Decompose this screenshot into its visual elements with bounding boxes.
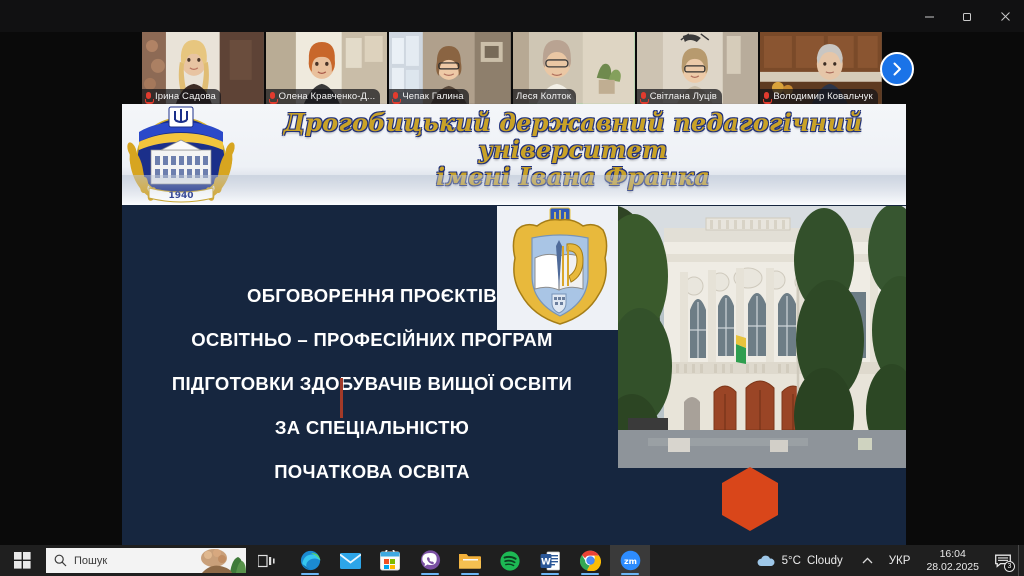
participant-name-badge: Ірина Садова (142, 89, 221, 104)
taskbar-app-store[interactable] (370, 545, 410, 576)
participant-tile[interactable]: Ірина Садова (142, 32, 264, 104)
participant-name: Леся Колток (516, 89, 571, 104)
notification-center-button[interactable]: 3 (988, 545, 1018, 576)
weather-temperature: 5°C (782, 555, 801, 567)
university-emblem: 1940 (125, 106, 237, 204)
participant-tile[interactable]: Світлана Луців (637, 32, 759, 104)
viber-icon (420, 550, 441, 571)
participant-name: Світлана Луців (650, 89, 717, 104)
participant-name: Чепак Галина (402, 89, 463, 104)
taskbar-app-word[interactable]: W (530, 545, 570, 576)
slide-header-band: 1940 Дрогобицький державний педагогічний… (122, 104, 906, 205)
chevron-up-icon (862, 557, 873, 564)
taskbar-app-icons: W zm (290, 545, 650, 576)
screen: Ірина Садова Олена Кравченко-Д. (0, 0, 1024, 576)
search-icon (54, 554, 67, 567)
language-indicator[interactable]: УКР (882, 545, 918, 576)
chevron-right-icon (889, 61, 905, 77)
weather-widget[interactable]: 5°C Cloudy (746, 554, 853, 568)
mail-icon (340, 553, 361, 569)
chrome-icon (580, 550, 601, 571)
slide-line-1: ОБГОВОРЕННЯ ПРОЄКТІВ (122, 284, 622, 308)
university-building-photo (618, 206, 906, 468)
participant-name: Ірина Садова (155, 89, 216, 104)
search-decoration-image (186, 548, 246, 573)
taskbar-app-spotify[interactable] (490, 545, 530, 576)
taskbar-app-mail[interactable] (330, 545, 370, 576)
slide-line-3: ПІДГОТОВКИ ЗДОБУВАЧІВ ВИЩОЇ ОСВІТИ (122, 372, 622, 396)
shared-presentation-slide[interactable]: 1940 Дрогобицький державний педагогічний… (122, 104, 906, 552)
slide-header-title-line2: імені Івана Франка (240, 163, 906, 190)
windows-logo-icon (14, 552, 31, 569)
search-input[interactable]: Пошук (46, 548, 246, 573)
participant-tile[interactable]: Чепак Галина (389, 32, 511, 104)
emblem-year: 1940 (168, 191, 193, 201)
microphone-muted-icon (145, 92, 152, 102)
taskbar-app-viber[interactable] (410, 545, 450, 576)
slide-line-4: ЗА СПЕЦІАЛЬНІСТЮ (122, 416, 622, 440)
taskbar-app-file-explorer[interactable] (450, 545, 490, 576)
task-view-button[interactable] (246, 545, 286, 576)
taskbar-app-edge[interactable] (290, 545, 330, 576)
microphone-muted-icon (392, 92, 399, 102)
clock[interactable]: 16:04 28.02.2025 (917, 545, 988, 576)
microphone-muted-icon (269, 92, 276, 102)
microphone-muted-icon (640, 92, 647, 102)
svg-text:zm: zm (624, 557, 637, 566)
participant-filmstrip: Ірина Садова Олена Кравченко-Д. (142, 32, 882, 104)
participant-name-badge: Чепак Галина (389, 89, 468, 104)
clock-time: 16:04 (940, 548, 966, 561)
text-caret (340, 378, 343, 418)
slide-header-title-line1: Дрогобицький державний педагогічний унів… (284, 108, 863, 164)
restore-button[interactable] (948, 0, 986, 32)
participant-name: Володимир Ковальчук (773, 89, 872, 104)
clock-date: 28.02.2025 (926, 561, 979, 574)
start-button[interactable] (0, 545, 44, 576)
close-button[interactable] (986, 0, 1024, 32)
participant-name-badge: Олена Кравченко-Д... (266, 89, 381, 104)
slide-header-title: Дрогобицький державний педагогічний унів… (240, 109, 906, 190)
system-tray: 5°C Cloudy УКР 16:04 28.02.2025 (746, 545, 1024, 576)
weather-description: Cloudy (807, 555, 843, 567)
participant-tile-active-speaker[interactable]: Леся Колток (513, 32, 635, 104)
svg-text:W: W (541, 557, 551, 567)
edge-icon (300, 550, 321, 571)
minimize-button[interactable] (910, 0, 948, 32)
window-title-bar (0, 0, 1024, 32)
show-hidden-icons-button[interactable] (853, 545, 882, 576)
window-controls (910, 0, 1024, 32)
slide-line-2: ОСВІТНЬО – ПРОФЕСІЙНИХ ПРОГРАМ (122, 328, 622, 352)
participant-name-badge: Світлана Луців (637, 89, 722, 104)
microsoft-store-icon (380, 550, 400, 571)
participant-tile[interactable]: Олена Кравченко-Д... (266, 32, 388, 104)
show-desktop-button[interactable] (1018, 545, 1024, 576)
file-explorer-icon (459, 552, 481, 570)
word-icon: W (540, 551, 560, 571)
participant-tile[interactable]: Володимир Ковальчук (760, 32, 882, 104)
slide-line-5: ПОЧАТКОВА ОСВІТА (122, 460, 622, 484)
zoom-icon: zm (620, 550, 641, 571)
slide-body-text: ОБГОВОРЕННЯ ПРОЄКТІВ ОСВІТНЬО – ПРОФЕСІЙ… (122, 284, 622, 504)
spotify-icon (500, 551, 520, 571)
task-view-icon (258, 554, 275, 568)
cloud-icon (756, 554, 776, 568)
participant-name-badge: Володимир Ковальчук (760, 89, 877, 104)
taskbar-app-chrome[interactable] (570, 545, 610, 576)
participant-name-badge: Леся Колток (513, 89, 576, 104)
taskbar-app-zoom[interactable]: zm (610, 545, 650, 576)
next-participants-button[interactable] (880, 52, 914, 86)
accent-hexagon-shape (722, 467, 778, 531)
microphone-muted-icon (763, 92, 770, 102)
notification-badge-count: 3 (1004, 561, 1015, 572)
participant-name: Олена Кравченко-Д... (279, 89, 376, 104)
search-placeholder: Пошук (74, 555, 107, 567)
windows-taskbar: Пошук (0, 545, 1024, 576)
